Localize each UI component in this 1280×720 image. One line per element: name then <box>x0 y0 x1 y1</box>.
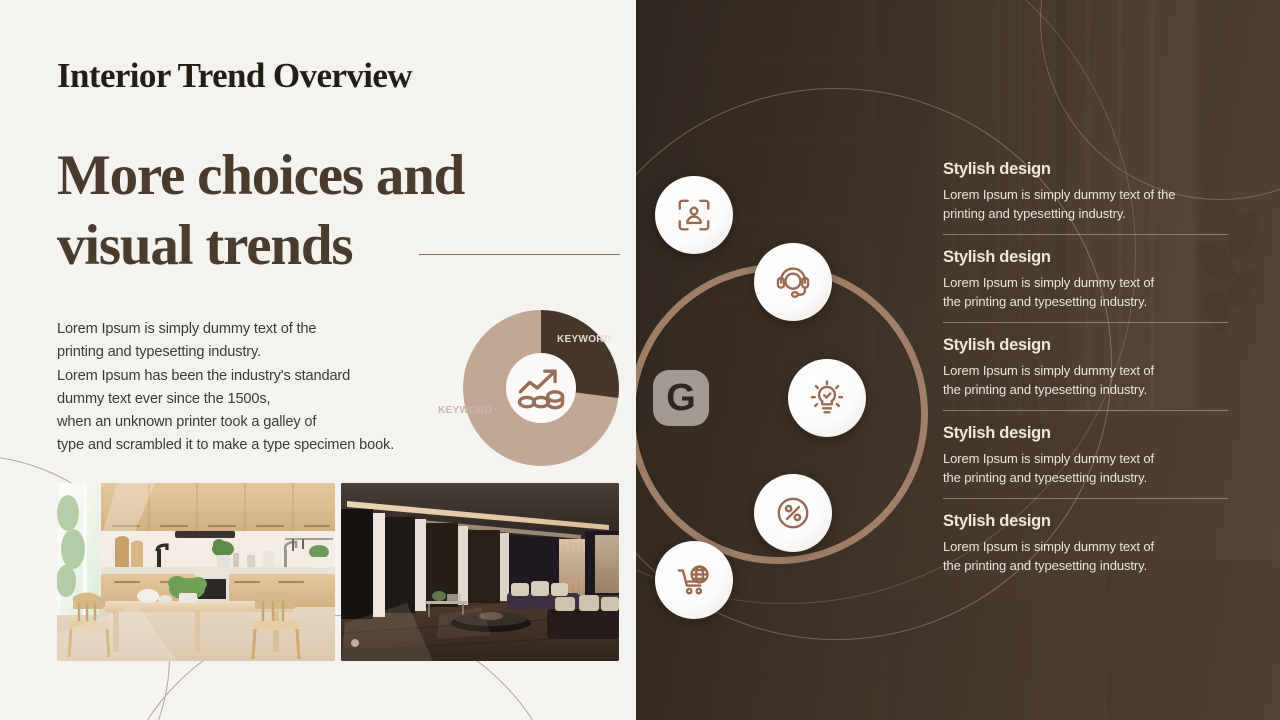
icon-bubble-user-scan[interactable] <box>655 176 733 254</box>
headline-divider <box>419 254 620 255</box>
list-item[interactable]: Stylish design Lorem Ipsum is simply dum… <box>943 234 1228 322</box>
feature-description: Lorem Ipsum is simply dummy text of the … <box>943 449 1228 487</box>
feature-desc-line-2: the printing and typesetting industry. <box>943 292 1228 311</box>
page-eyebrow-title: Interior Trend Overview <box>57 56 412 96</box>
feature-description: Lorem Ipsum is simply dummy text of the … <box>943 185 1228 223</box>
kitchen-interior-photo <box>57 483 335 661</box>
list-item[interactable]: Stylish design Lorem Ipsum is simply dum… <box>943 410 1228 498</box>
feature-desc-line-1: Lorem Ipsum is simply dummy text of the <box>943 185 1228 204</box>
feature-title: Stylish design <box>943 512 1228 531</box>
headline-line-2: visual trends <box>57 214 352 277</box>
feature-title: Stylish design <box>943 424 1228 443</box>
percent-icon <box>774 494 812 532</box>
growth-chart-coins-icon <box>511 358 571 418</box>
feature-description: Lorem Ipsum is simply dummy text of the … <box>943 273 1228 311</box>
feature-desc-line-1: Lorem Ipsum is simply dummy text of <box>943 361 1228 380</box>
headset-icon <box>774 263 812 301</box>
living-room-interior-photo <box>341 483 619 661</box>
feature-desc-line-2: the printing and typesetting industry. <box>943 468 1228 487</box>
left-content-panel: Interior Trend Overview More choices and… <box>0 0 636 720</box>
body-line-5: when an unknown printer took a galley of <box>57 411 452 434</box>
feature-description: Lorem Ipsum is simply dummy text of the … <box>943 361 1228 399</box>
body-line-1: Lorem Ipsum is simply dummy text of the <box>57 318 452 341</box>
donut-label-left: KEYWORD <box>438 405 492 416</box>
cart-globe-icon <box>675 561 713 599</box>
icon-bubble-cart-globe[interactable] <box>655 541 733 619</box>
list-item[interactable]: Stylish design Lorem Ipsum is simply dum… <box>943 160 1228 234</box>
keyword-donut-chart: KEYWORD KEYWORD <box>463 310 619 466</box>
body-line-2: printing and typesetting industry. <box>57 341 452 364</box>
icon-bubble-percent[interactable] <box>754 474 832 552</box>
feature-desc-line-1: Lorem Ipsum is simply dummy text of <box>943 273 1228 292</box>
feature-desc-line-2: the printing and typesetting industry. <box>943 556 1228 575</box>
headline-line-1: More choices and <box>57 144 464 207</box>
feature-desc-line-2: the printing and typesetting industry. <box>943 380 1228 399</box>
feature-desc-line-1: Lorem Ipsum is simply dummy text of <box>943 449 1228 468</box>
body-line-4: dummy text ever since the 1500s, <box>57 388 452 411</box>
feature-desc-line-1: Lorem Ipsum is simply dummy text of <box>943 537 1228 556</box>
right-dark-panel: G <box>636 0 1280 720</box>
body-line-6: type and scrambled it to make a type spe… <box>57 434 452 457</box>
user-scan-icon <box>675 196 713 234</box>
list-item[interactable]: Stylish design Lorem Ipsum is simply dum… <box>943 498 1228 586</box>
feature-desc-line-2: printing and typesetting industry. <box>943 204 1228 223</box>
list-item[interactable]: Stylish design Lorem Ipsum is simply dum… <box>943 322 1228 410</box>
feature-title: Stylish design <box>943 248 1228 267</box>
feature-title: Stylish design <box>943 336 1228 355</box>
body-paragraph: Lorem Ipsum is simply dummy text of the … <box>57 318 452 458</box>
feature-title: Stylish design <box>943 160 1228 179</box>
feature-description: Lorem Ipsum is simply dummy text of the … <box>943 537 1228 575</box>
kitchen-photo-art <box>57 483 335 661</box>
page-title: More choices and visual trends <box>57 141 527 281</box>
slide-root: Interior Trend Overview More choices and… <box>0 0 1280 720</box>
icon-bubble-headset[interactable] <box>754 243 832 321</box>
feature-list: Stylish design Lorem Ipsum is simply dum… <box>943 160 1228 586</box>
lightbulb-check-icon <box>808 379 846 417</box>
brand-badge-g[interactable]: G <box>653 370 709 426</box>
body-line-3: Lorem Ipsum has been the industry's stan… <box>57 365 452 388</box>
icon-bubble-lightbulb-check[interactable] <box>788 359 866 437</box>
donut-label-right: KEYWORD <box>557 334 611 345</box>
living-photo-art <box>341 483 619 661</box>
